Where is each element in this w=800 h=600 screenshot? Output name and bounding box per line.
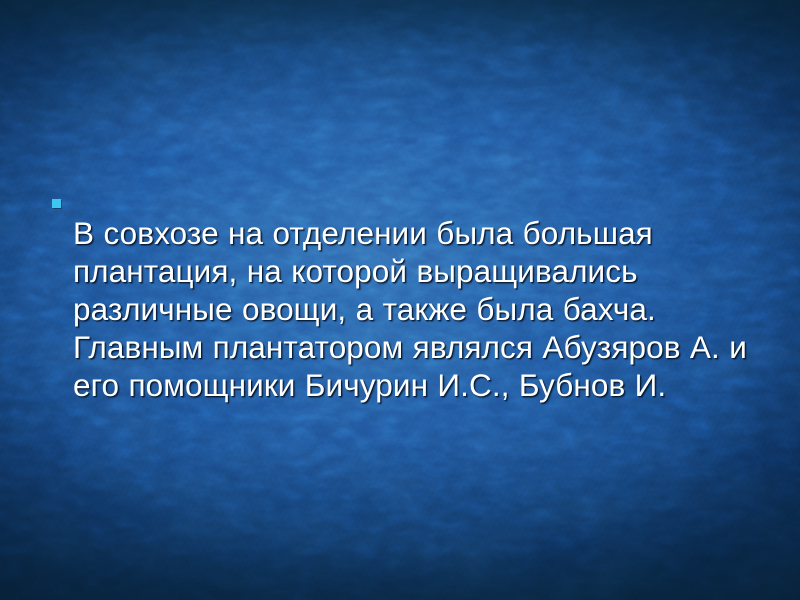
- slide-content: В совхозе на отделении была большая план…: [0, 0, 800, 600]
- slide-canvas: В совхозе на отделении была большая план…: [0, 0, 800, 600]
- square-bullet-icon: [52, 199, 61, 208]
- bullet-paragraph-text: В совхозе на отделении была большая план…: [73, 214, 782, 404]
- bullet-list-item: В совхозе на отделении была большая план…: [52, 182, 782, 435]
